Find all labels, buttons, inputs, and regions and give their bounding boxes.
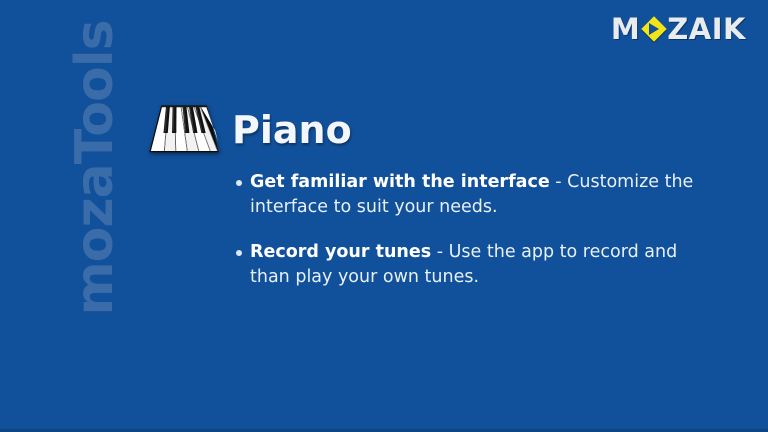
bullet-list: Get familiar with the interface - Custom… bbox=[236, 170, 706, 290]
list-item-title: Record your tunes bbox=[250, 242, 431, 262]
list-item: Get familiar with the interface - Custom… bbox=[236, 170, 706, 220]
diamond-icon bbox=[641, 17, 666, 42]
list-item-title: Get familiar with the interface bbox=[250, 172, 550, 192]
mozatools-watermark: mozaTools bbox=[69, 13, 121, 323]
list-item-text: Get familiar with the interface - Custom… bbox=[250, 170, 706, 220]
slide-canvas: mozaTools M ZAIK bbox=[0, 0, 768, 432]
list-item-text: Record your tunes - Use the app to recor… bbox=[250, 240, 706, 290]
logo-text-suffix: ZAIK bbox=[667, 14, 746, 44]
bullet-dot-icon bbox=[236, 250, 242, 256]
slide-header: Piano bbox=[148, 104, 352, 156]
logo-text-prefix: M bbox=[611, 14, 640, 44]
list-item: Record your tunes - Use the app to recor… bbox=[236, 240, 706, 290]
mozaik-logo[interactable]: M ZAIK bbox=[611, 14, 746, 44]
bullet-dot-icon bbox=[236, 180, 242, 186]
piano-keyboard-icon bbox=[148, 104, 220, 156]
page-title: Piano bbox=[232, 110, 352, 150]
